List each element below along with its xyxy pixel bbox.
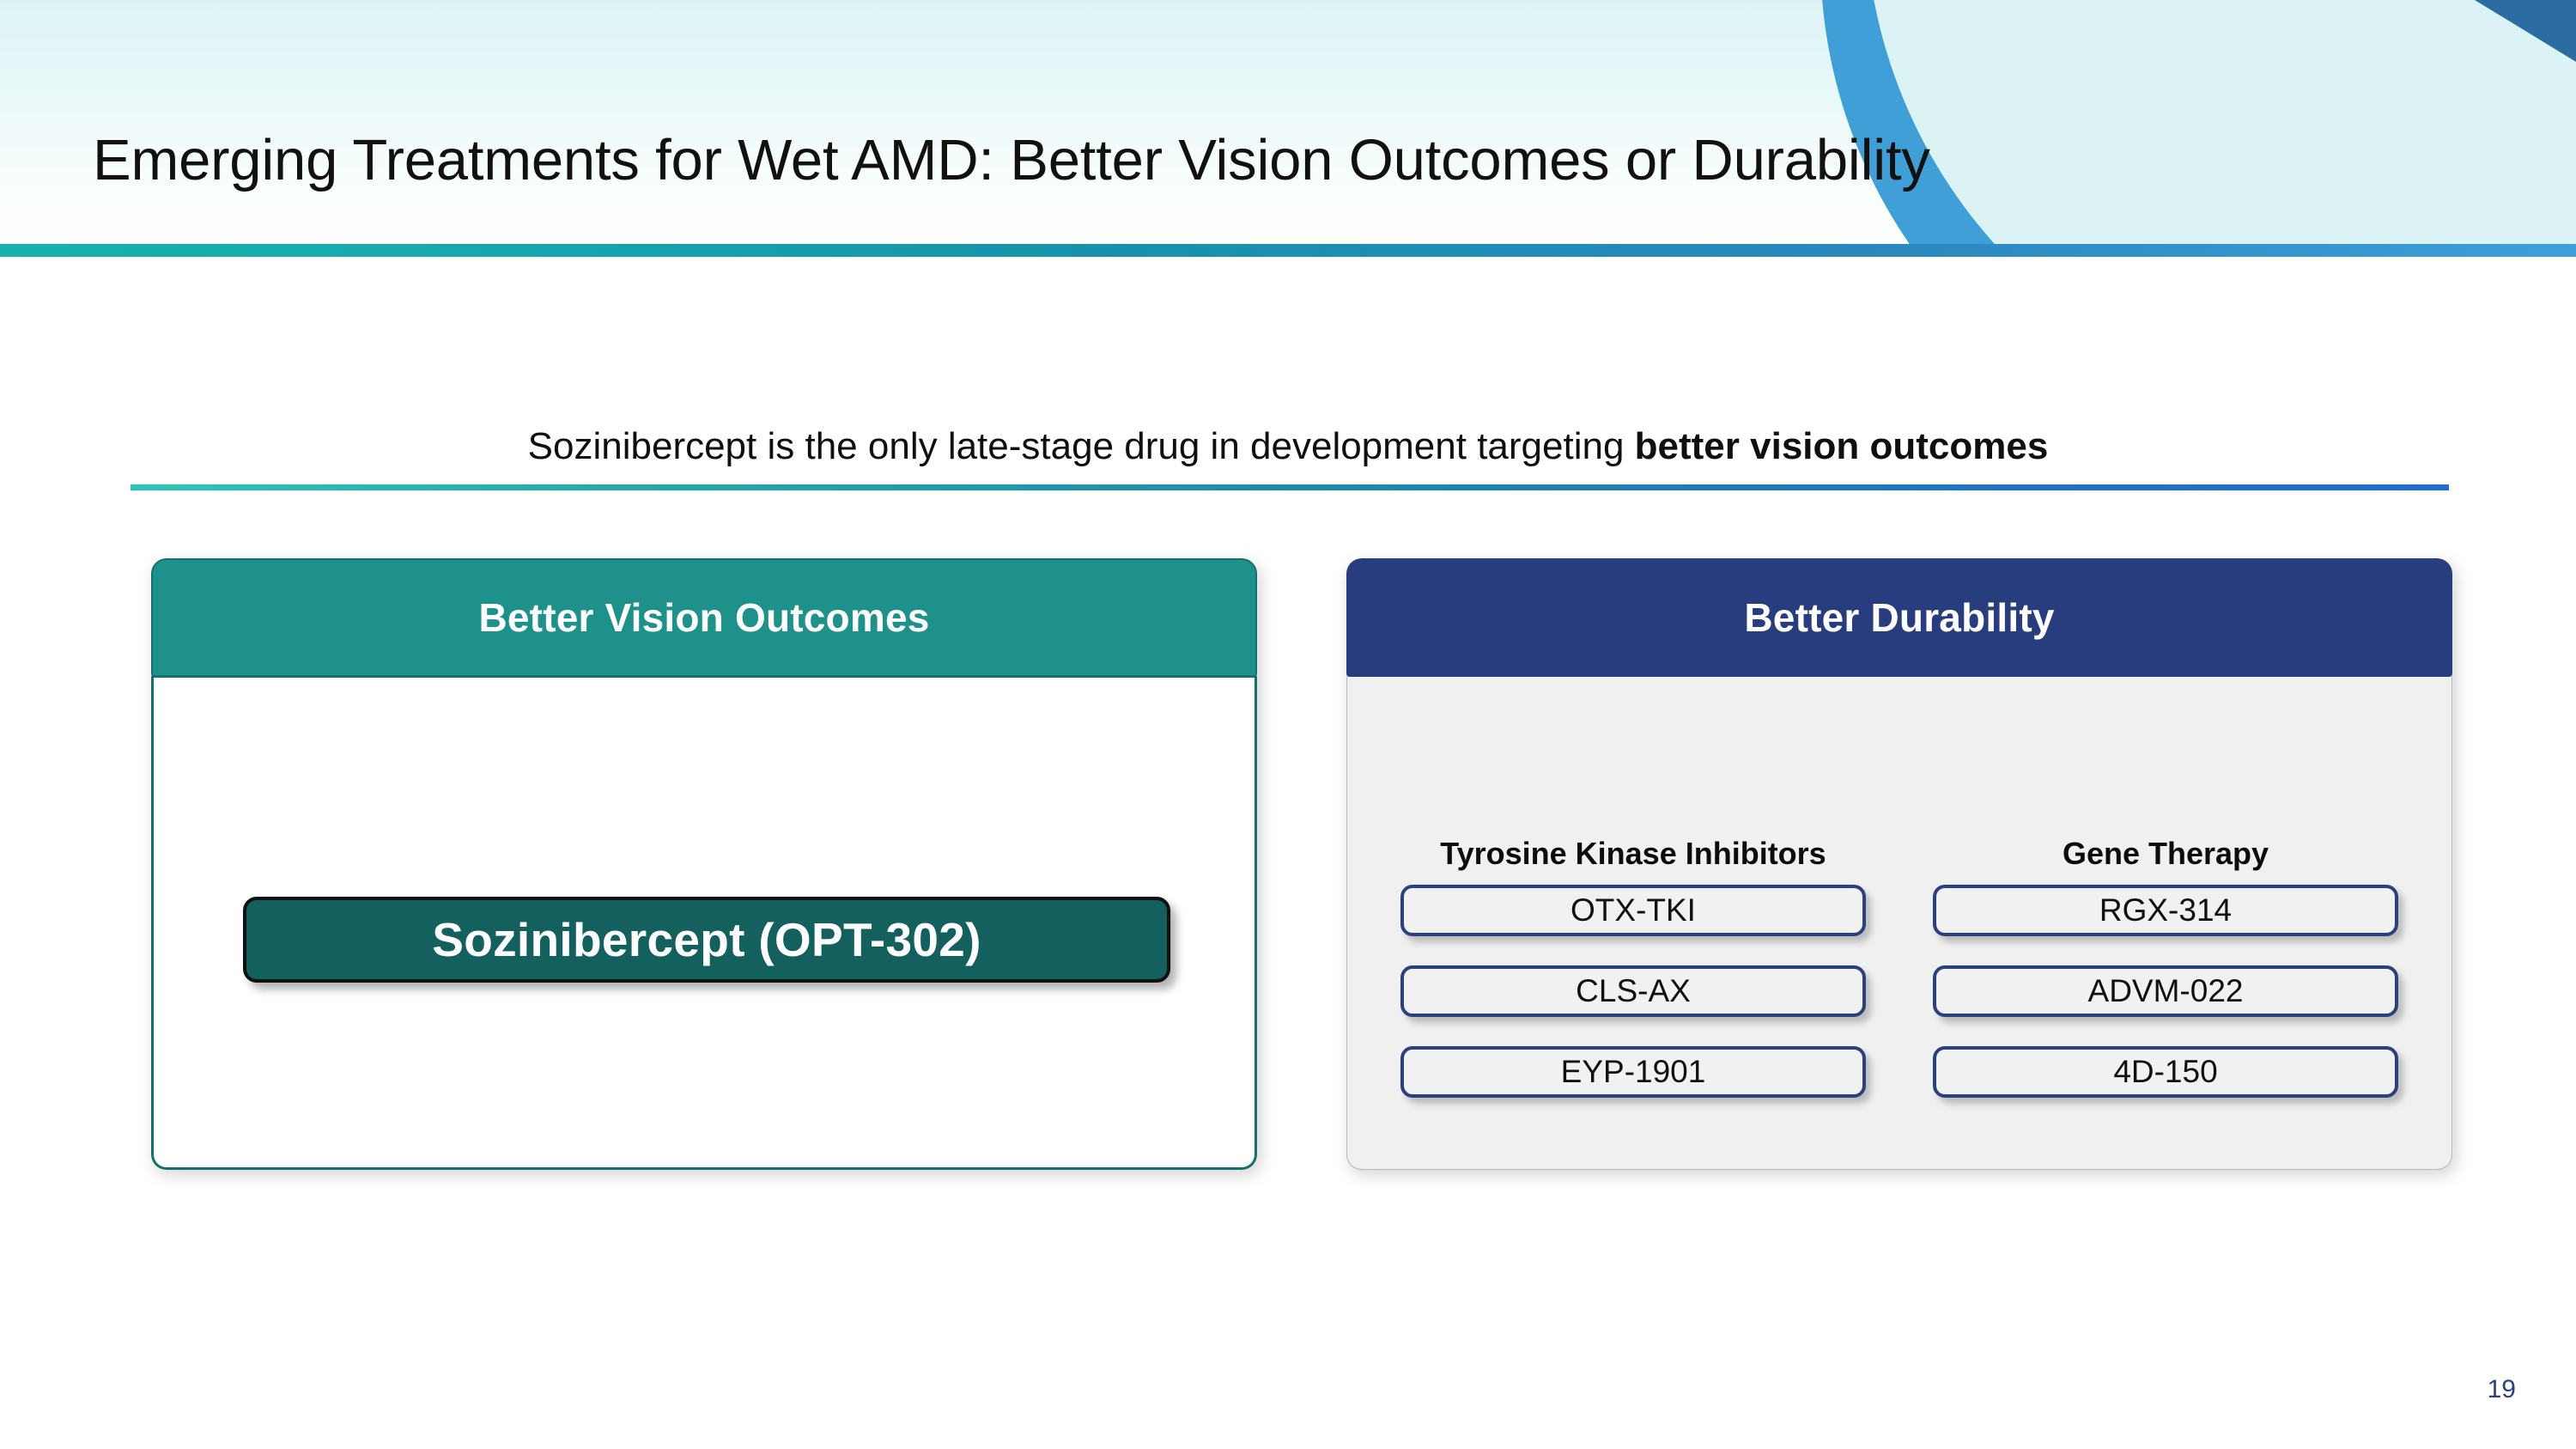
drug-pill-advm-022[interactable]: ADVM-022 [1933,965,2398,1017]
drug-pill-cls-ax[interactable]: CLS-AX [1400,965,1866,1017]
subtitle-lead-text: Sozinibercept is the only late-stage dru… [528,425,1635,467]
gene-therapy-column: Gene Therapy RGX-314 ADVM-022 4D-150 [1933,836,2398,1288]
header-band [0,0,2576,244]
gene-therapy-column-title: Gene Therapy [1933,836,2398,872]
tyrosine-kinase-inhibitors-column: Tyrosine Kinase Inhibitors OTX-TKI CLS-A… [1400,836,1866,1288]
better-durability-card: Tyrosine Kinase Inhibitors OTX-TKI CLS-A… [1346,558,2452,1170]
subtitle-statement: Sozinibercept is the only late-stage dru… [129,425,2447,468]
page-title: Emerging Treatments for Wet AMD: Better … [93,127,2497,193]
drug-pill-eyp-1901[interactable]: EYP-1901 [1400,1046,1866,1098]
vision-card-body: Sozinibercept (OPT-302) [151,675,1257,1170]
better-vision-outcomes-card: Sozinibercept (OPT-302) Better Vision Ou… [151,558,1257,1170]
vision-card-header: Better Vision Outcomes [151,558,1257,677]
durability-columns: Tyrosine Kinase Inhibitors OTX-TKI CLS-A… [1347,793,2451,1288]
page-number: 19 [2488,1375,2516,1404]
durability-card-body: Tyrosine Kinase Inhibitors OTX-TKI CLS-A… [1346,675,2452,1170]
drug-pill-otx-tki[interactable]: OTX-TKI [1400,885,1866,936]
corner-arc-inner-icon [1865,0,2576,244]
subtitle-divider-rule [131,484,2449,490]
subtitle-emphasis-text: better vision outcomes [1635,425,2049,467]
sozinibercept-drug-pill[interactable]: Sozinibercept (OPT-302) [243,897,1170,983]
header-divider-rule [0,244,2576,257]
durability-card-header: Better Durability [1346,558,2452,677]
tki-column-title: Tyrosine Kinase Inhibitors [1400,836,1866,872]
drug-pill-4d-150[interactable]: 4D-150 [1933,1046,2398,1098]
slide-canvas: Emerging Treatments for Wet AMD: Better … [0,0,2576,1449]
drug-pill-rgx-314[interactable]: RGX-314 [1933,885,2398,936]
